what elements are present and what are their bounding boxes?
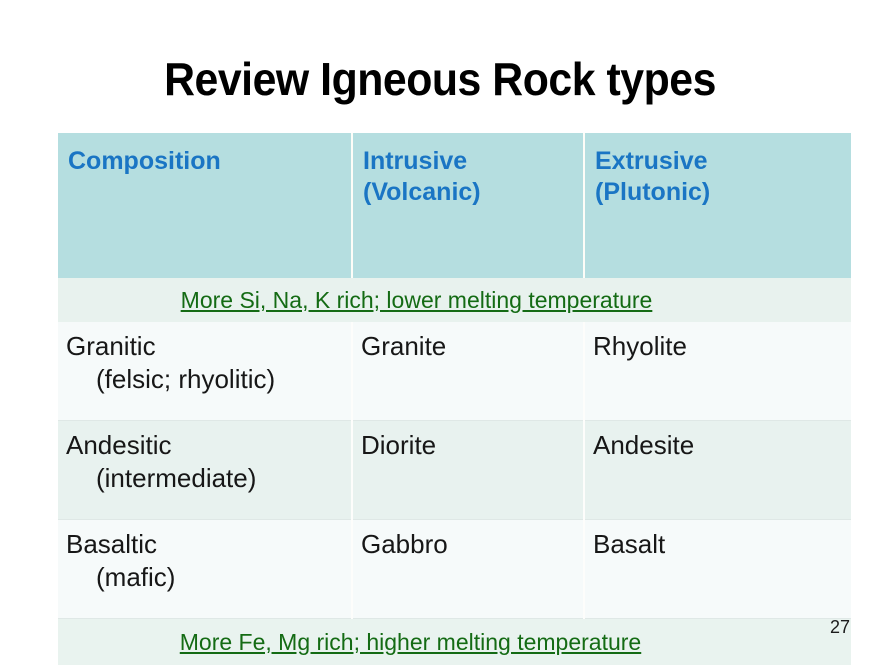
- table-row: Andesitic (intermediate) Diorite Andesit…: [58, 421, 851, 520]
- column-header-extrusive: Extrusive (Plutonic): [584, 133, 851, 278]
- cell-extrusive: Andesite: [584, 421, 851, 520]
- slide-number: 27: [830, 617, 850, 638]
- composition-sub: (mafic): [66, 561, 351, 594]
- igneous-rock-table: Composition Intrusive (Volcanic) Extrusi…: [58, 133, 851, 665]
- cell-intrusive: Diorite: [352, 421, 584, 520]
- column-header-composition: Composition: [58, 133, 352, 278]
- slide-canvas: Review Igneous Rock types Composition In…: [0, 0, 880, 660]
- column-header-intrusive-line2: (Volcanic): [363, 177, 583, 208]
- page-title: Review Igneous Rock types: [31, 52, 849, 106]
- composition-main: Granitic: [66, 330, 351, 363]
- note-cell-bottom: More Fe, Mg rich; higher melting tempera…: [58, 619, 851, 665]
- column-header-extrusive-line1: Extrusive: [595, 147, 708, 175]
- cell-intrusive: Gabbro: [352, 520, 584, 619]
- composition-sub: (intermediate): [66, 462, 351, 495]
- table-header-row: Composition Intrusive (Volcanic) Extrusi…: [58, 133, 851, 278]
- cell-extrusive: Rhyolite: [584, 322, 851, 421]
- column-header-composition-line1: Composition: [68, 147, 221, 175]
- cell-composition: Basaltic (mafic): [58, 520, 352, 619]
- composition-main: Basaltic: [66, 528, 351, 561]
- cell-extrusive: Basalt: [584, 520, 851, 619]
- column-header-intrusive-line1: Intrusive: [363, 147, 467, 175]
- column-header-intrusive: Intrusive (Volcanic): [352, 133, 584, 278]
- table-row: Granitic (felsic; rhyolitic) Granite Rhy…: [58, 322, 851, 421]
- cell-composition: Granitic (felsic; rhyolitic): [58, 322, 352, 421]
- note-row-bottom: More Fe, Mg rich; higher melting tempera…: [58, 619, 851, 665]
- table-row: Basaltic (mafic) Gabbro Basalt: [58, 520, 851, 619]
- composition-main: Andesitic: [66, 429, 351, 462]
- composition-sub: (felsic; rhyolitic): [66, 363, 351, 396]
- cell-intrusive: Granite: [352, 322, 584, 421]
- note-text-bottom: More Fe, Mg rich; higher melting tempera…: [180, 629, 641, 656]
- cell-composition: Andesitic (intermediate): [58, 421, 352, 520]
- note-text-top: More Si, Na, K rich; lower melting tempe…: [181, 287, 653, 314]
- note-row-top: More Si, Na, K rich; lower melting tempe…: [58, 278, 851, 322]
- note-cell-top: More Si, Na, K rich; lower melting tempe…: [58, 278, 851, 322]
- column-header-extrusive-line2: (Plutonic): [595, 177, 851, 208]
